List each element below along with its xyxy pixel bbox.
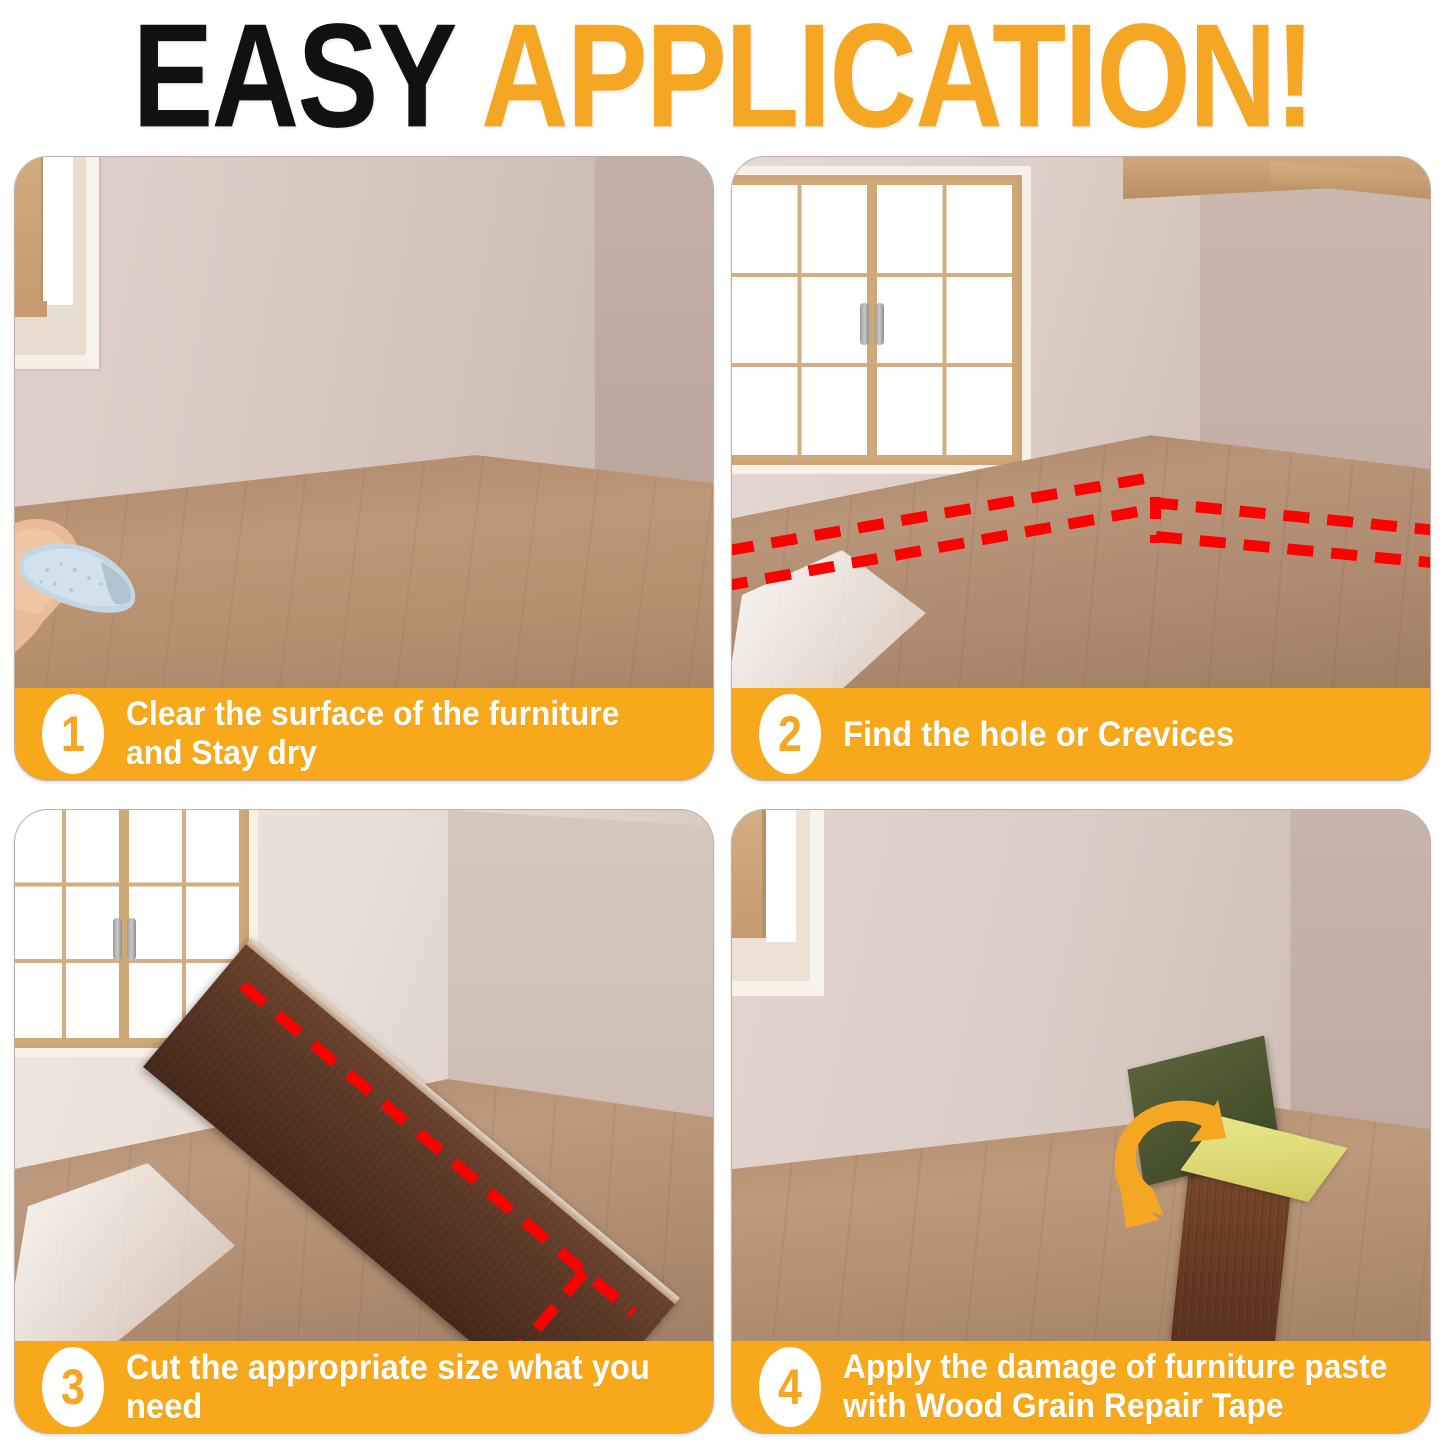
- window-frame-icon: [732, 810, 824, 996]
- step-3-line1: Cut the appropriate size what you need: [126, 1348, 671, 1426]
- step-1-line2: and Stay dry: [126, 734, 619, 773]
- window-handle-left[interactable]: [860, 303, 869, 345]
- dashed-guide-corner-vertical: [1150, 497, 1161, 543]
- step-4-image: [732, 810, 1430, 1343]
- step-3-caption: 3 Cut the appropriate size what you need: [15, 1341, 713, 1433]
- step-number-badge: 2: [759, 694, 821, 774]
- window-pane-grid-left: [15, 810, 119, 1038]
- title-word-easy: EASY: [132, 0, 481, 158]
- casement-window: [732, 175, 1022, 465]
- step-4-caption: 4 Apply the damage of furniture paste wi…: [732, 1341, 1430, 1433]
- title-word-application: APPLICATION!: [481, 0, 1313, 158]
- window-glass: [766, 810, 796, 942]
- step-number-badge: 4: [759, 1347, 821, 1427]
- header-banner: EASY APPLICATION!: [0, 0, 1445, 152]
- window-sash-left: [732, 180, 872, 460]
- step-2-text: Find the hole or Crevices: [830, 715, 1234, 754]
- step-panel-1[interactable]: 1 Clear the surface of the furniture and…: [14, 156, 714, 781]
- dashed-cut-line-cross: [511, 1268, 589, 1343]
- infographic-page: EASY APPLICATION!: [0, 0, 1445, 1445]
- step-number-badge: 1: [42, 694, 104, 774]
- step-panel-3[interactable]: 3 Cut the appropriate size what you need: [14, 809, 714, 1434]
- step-1-image: [15, 157, 713, 690]
- step-panel-4[interactable]: 4 Apply the damage of furniture paste wi…: [731, 809, 1431, 1434]
- window-glass: [43, 157, 73, 305]
- window-pane-grid-left: [732, 185, 867, 455]
- page-title: EASY APPLICATION!: [132, 2, 1313, 150]
- step-4-line1: Apply the damage of furniture paste: [843, 1348, 1387, 1387]
- window-pane-grid-right: [877, 185, 1012, 455]
- step-1-text: Clear the surface of the furniture and S…: [113, 695, 619, 773]
- step-panel-2[interactable]: 2 Find the hole or Crevices: [731, 156, 1431, 781]
- step-2-image: [732, 157, 1430, 690]
- hand-with-cloth-icon: [15, 512, 151, 672]
- step-2-caption: 2 Find the hole or Crevices: [732, 688, 1430, 780]
- window-frame-icon: [15, 157, 99, 369]
- window-sash-right: [872, 180, 1017, 460]
- step-3-image: [15, 810, 713, 1343]
- step-3-text: Cut the appropriate size what you need: [113, 1348, 671, 1426]
- window-sash-left: [15, 810, 124, 1043]
- step-1-caption: 1 Clear the surface of the furniture and…: [15, 688, 713, 780]
- step-number-badge: 3: [42, 1347, 104, 1427]
- step-2-line1: Find the hole or Crevices: [843, 715, 1234, 754]
- step-4-line2: with Wood Grain Repair Tape: [843, 1387, 1387, 1426]
- window-handle-right[interactable]: [127, 918, 136, 960]
- window-handle-right[interactable]: [875, 303, 884, 345]
- step-4-text: Apply the damage of furniture paste with…: [830, 1348, 1387, 1426]
- step-1-line1: Clear the surface of the furniture: [126, 695, 619, 734]
- window-handle-left[interactable]: [113, 918, 122, 960]
- curved-arrow-icon: [1102, 1082, 1232, 1232]
- steps-grid: 1 Clear the surface of the furniture and…: [14, 156, 1431, 1434]
